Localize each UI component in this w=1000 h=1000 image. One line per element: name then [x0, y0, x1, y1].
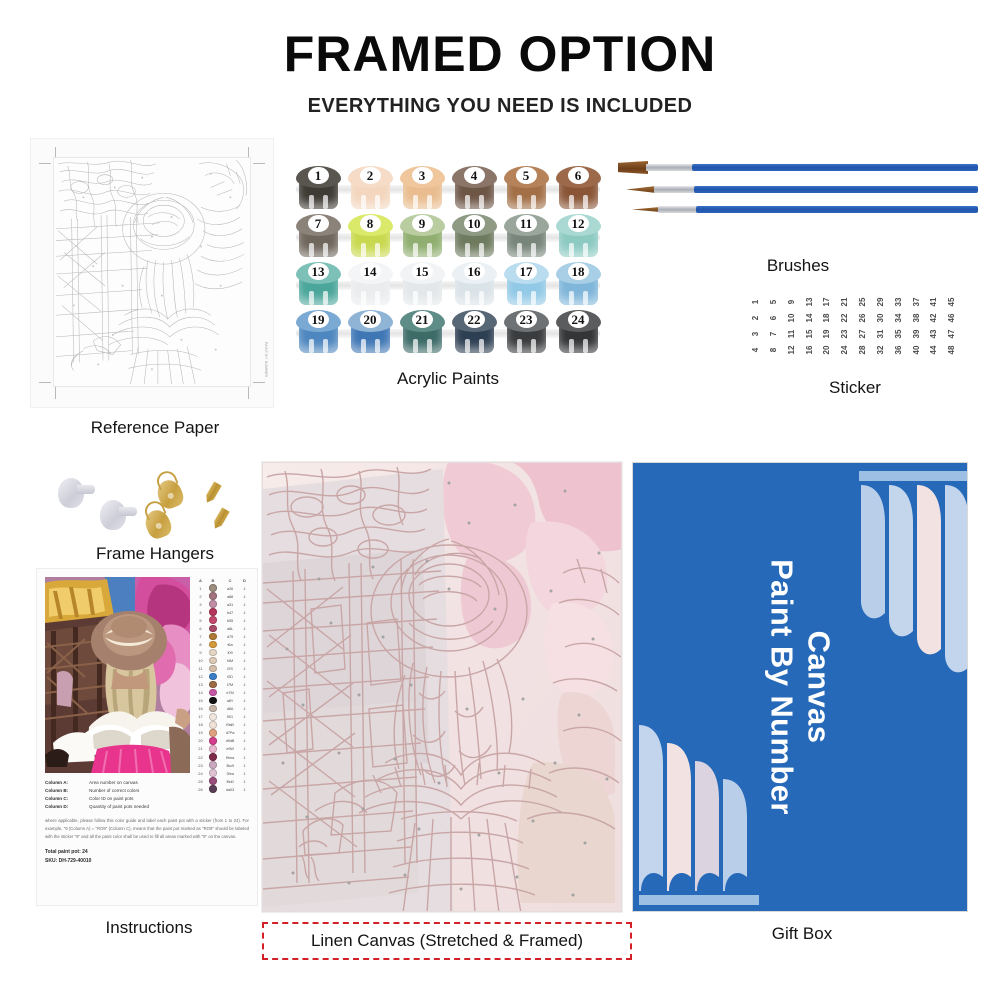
legend-color-id: f4M [220, 658, 240, 663]
sticker-number[interactable]: 20 [818, 341, 834, 359]
brush-handle [692, 164, 978, 171]
paint-pot[interactable]: 5 [504, 165, 549, 211]
brush-medium-round [618, 186, 978, 196]
legend-header-b: B [206, 578, 220, 583]
legend-color-id: a31 [220, 602, 240, 607]
legend-area-number: 11 [195, 666, 206, 671]
brush-ferrule [658, 206, 698, 213]
legend-quantity: 1 [240, 666, 249, 671]
wall-plug-icon [100, 500, 126, 530]
legend-area-number: 10 [195, 658, 206, 663]
legend-color-swatch [209, 616, 217, 624]
legend-quantity: 1 [240, 650, 249, 655]
legend-row: 2439ra1 [195, 769, 249, 777]
linen-canvas-artwork [262, 462, 622, 912]
instructions-column-value: Color ID on paint pots [89, 795, 133, 803]
legend-row: 5b551 [195, 616, 249, 624]
gift-box-title-line2: Paint By Number [763, 559, 800, 815]
legend-color-swatch [209, 633, 217, 641]
legend-color-swatch [209, 592, 217, 600]
legend-color-swatch [209, 777, 217, 785]
legend-color-swatch [209, 753, 217, 761]
legend-color-swatch [209, 584, 217, 592]
legend-row: 17f0G1 [195, 713, 249, 721]
legend-color-swatch [209, 608, 217, 616]
legend-quantity: 1 [240, 642, 249, 647]
sticker-number[interactable]: 28 [854, 341, 870, 359]
sticker-number[interactable]: 40 [907, 341, 923, 359]
gift-box-title: Canvas Paint By Number [763, 559, 836, 815]
legend-row: 233bc91 [195, 761, 249, 769]
legend-quantity: 1 [240, 658, 249, 663]
legend-color-swatch [209, 657, 217, 665]
legend-row: 4b471 [195, 608, 249, 616]
sticker-number[interactable]: 12 [783, 341, 799, 359]
legend-quantity: 1 [240, 730, 249, 735]
acrylic-paints-caption: Acrylic Paints [292, 369, 604, 389]
instructions-sheet: A B C D 1a2612a8813a3114b4715b5516a8L17d… [36, 568, 258, 906]
instructions-column-value: Quantity of paint pots needed [89, 803, 149, 811]
brush-bristles [626, 186, 656, 193]
paint-pot-number: 11 [504, 216, 549, 232]
legend-area-number: 20 [195, 738, 206, 743]
sticker-number[interactable]: 8 [765, 341, 781, 359]
instructions-top-row: A B C D 1a2612a8813a3114b4715b5516a8L17d… [45, 577, 249, 773]
legend-color-id: da03 [220, 787, 240, 792]
legend-header-a: A [195, 578, 206, 583]
legend-color-id: d6A [220, 706, 240, 711]
paint-pot[interactable]: 15 [400, 261, 445, 307]
legend-area-number: 16 [195, 706, 206, 711]
paint-pot-row-inner: 131415161718 [292, 261, 604, 307]
screw-icon [203, 481, 222, 505]
legend-area-number: 8 [195, 642, 206, 647]
sticker-caption: Sticker [740, 378, 970, 398]
legend-quantity: 1 [240, 594, 249, 599]
sticker-item: 1234567891011121314151617181920212223242… [740, 288, 970, 398]
paint-pot[interactable]: 16 [452, 261, 497, 307]
legend-color-swatch [209, 673, 217, 681]
sticker-number[interactable]: 24 [836, 341, 852, 359]
gift-box-item: Canvas Paint By Number Gift Box [632, 462, 972, 944]
legend-quantity: 1 [240, 674, 249, 679]
screw-icon [211, 507, 230, 531]
reference-paper-item: PAINT BY NUMBER Reference Paper [30, 138, 280, 438]
legend-row: 11f2S1 [195, 664, 249, 672]
legend-area-number: 4 [195, 610, 206, 615]
paint-pot-row-inner: 123456 [292, 165, 604, 211]
paint-pot[interactable]: 7 [296, 213, 341, 259]
legend-area-number: 6 [195, 626, 206, 631]
linen-canvas-caption: Linen Canvas (Stretched & Framed) [311, 931, 583, 950]
legend-quantity: 1 [240, 634, 249, 639]
legend-area-number: 19 [195, 730, 206, 735]
paint-pot-number: 19 [296, 312, 341, 328]
legend-header-row: A B C D [195, 577, 249, 584]
sticker-number[interactable]: 16 [800, 341, 816, 359]
paint-pot[interactable]: 3 [400, 165, 445, 211]
legend-area-number: 21 [195, 746, 206, 751]
paint-pot-number: 24 [556, 312, 601, 328]
legend-row: 21e9W1 [195, 745, 249, 753]
legend-row: 25f5d01 [195, 777, 249, 785]
legend-color-id: f2D [220, 674, 240, 679]
legend-row: 6a8L1 [195, 624, 249, 632]
sticker-number-grid: 1234567891011121314151617181920212223242… [746, 294, 960, 358]
legend-quantity: 1 [240, 714, 249, 719]
paint-pot-number: 6 [556, 168, 601, 184]
paint-pot-number: 7 [296, 216, 341, 232]
legend-color-swatch [209, 697, 217, 705]
legend-color-swatch [209, 713, 217, 721]
paint-pot-number: 15 [400, 264, 445, 280]
legend-row: 1a261 [195, 584, 249, 592]
legend-color-swatch [209, 681, 217, 689]
paint-pot[interactable]: 18 [556, 261, 601, 307]
paint-pot-row: 789101112 [292, 213, 604, 261]
legend-color-id: d79 [220, 634, 240, 639]
sticker-sheet: 1234567891011121314151617181920212223242… [740, 288, 966, 364]
legend-row: 2a881 [195, 592, 249, 600]
legend-row: 15a8Y1 [195, 697, 249, 705]
paint-pot-number: 9 [400, 216, 445, 232]
paint-pot[interactable]: 23 [504, 309, 549, 355]
legend-area-number: 3 [195, 602, 206, 607]
wall-plug-icon [58, 478, 84, 508]
legend-row: 16d6A1 [195, 705, 249, 713]
paint-pot[interactable]: 12 [556, 213, 601, 259]
legend-quantity: 1 [240, 586, 249, 591]
legend-color-id: a88 [220, 594, 240, 599]
legend-area-number: 15 [195, 698, 206, 703]
legend-quantity: 1 [240, 626, 249, 631]
legend-color-swatch [209, 665, 217, 673]
legend-color-swatch [209, 721, 217, 729]
page-subtitle: EVERYTHING YOU NEED IS INCLUDED [0, 95, 1000, 118]
legend-area-number: 22 [195, 755, 206, 760]
instructions-column-key: Column A: [45, 779, 89, 787]
legend-quantity: 1 [240, 746, 249, 751]
page-title: FRAMED OPTION [0, 28, 1000, 81]
legend-area-number: 13 [195, 682, 206, 687]
brush-bristles [618, 161, 648, 174]
legend-color-id: f2S [220, 666, 240, 671]
paint-pot[interactable]: 20 [348, 309, 393, 355]
paint-pot[interactable]: 8 [348, 213, 393, 259]
paint-pot-row: 192021222324 [292, 309, 604, 357]
legend-row: 14e7M1 [195, 689, 249, 697]
sticker-number[interactable]: 48 [943, 341, 959, 359]
legend-color-id: a8L [220, 626, 240, 631]
legend-quantity: 1 [240, 610, 249, 615]
reference-paper-side-code: PAINT BY NUMBER [264, 342, 268, 377]
paint-pot[interactable]: 10 [452, 213, 497, 259]
legend-color-id: a8Y [220, 698, 240, 703]
brush-handle [694, 186, 978, 193]
legend-color-swatch [209, 761, 217, 769]
legend-color-id: f6a [220, 642, 240, 647]
instructions-column-key: Column C: [45, 795, 89, 803]
paint-pot-number: 12 [556, 216, 601, 232]
paint-pot-number: 23 [504, 312, 549, 328]
legend-color-swatch [209, 729, 217, 737]
instructions-paragraph: where applicable, please follow this col… [45, 817, 249, 841]
paint-pot-row: 123456 [292, 165, 604, 213]
instructions-footer: Total paint pot: 24 SKU: DH-729-40010 [45, 848, 249, 867]
canvas-lineart-svg [263, 463, 622, 912]
legend-color-swatch [209, 689, 217, 697]
paint-pot[interactable]: 1 [296, 165, 341, 211]
legend-quantity: 1 [240, 779, 249, 784]
legend-header-d: D [240, 578, 249, 583]
legend-rows: 1a2612a8813a3114b4715b5516a8L17d7918f6a1… [195, 584, 249, 793]
legend-quantity: 1 [240, 755, 249, 760]
legend-color-id: f7M [220, 682, 240, 687]
crop-mark [39, 163, 51, 164]
legend-quantity: 1 [240, 618, 249, 623]
legend-quantity: 1 [240, 706, 249, 711]
legend-color-swatch [209, 785, 217, 793]
brush-bristles [632, 207, 660, 212]
instructions-painting-preview [45, 577, 190, 773]
instructions-caption: Instructions [36, 918, 262, 938]
instructions-column-key: Column D: [45, 803, 89, 811]
paint-pot[interactable]: 17 [504, 261, 549, 307]
brush-ferrule [654, 186, 696, 193]
reference-paper-lineart [53, 157, 251, 387]
legend-row: 18f9aB1 [195, 721, 249, 729]
brush-fine-round [618, 206, 978, 216]
d-ring-hanger-icon [142, 507, 175, 542]
legend-row: 19d7Pa1 [195, 729, 249, 737]
legend-row: 12f2D1 [195, 673, 249, 681]
paint-pot-number: 1 [296, 168, 341, 184]
legend-color-id: b55 [220, 618, 240, 623]
paint-pot[interactable]: 19 [296, 309, 341, 355]
paint-pot-number: 8 [348, 216, 393, 232]
paint-pot-number: 3 [400, 168, 445, 184]
legend-quantity: 1 [240, 738, 249, 743]
paint-pot-number: 18 [556, 264, 601, 280]
paint-pot-number: 17 [504, 264, 549, 280]
legend-area-number: 24 [195, 771, 206, 776]
legend-area-number: 18 [195, 722, 206, 727]
legend-quantity: 1 [240, 698, 249, 703]
gift-box-artwork: Canvas Paint By Number [632, 462, 968, 912]
legend-color-swatch [209, 737, 217, 745]
legend-color-swatch [209, 705, 217, 713]
paint-pot[interactable]: 13 [296, 261, 341, 307]
legend-color-id: f09 [220, 650, 240, 655]
legend-color-swatch [209, 625, 217, 633]
instructions-column-value: Area number on canvas [89, 779, 138, 787]
legend-area-number: 23 [195, 763, 206, 768]
brush-handle [696, 206, 978, 213]
paint-pot-number: 21 [400, 312, 445, 328]
paint-pot-grid: 123456789101112131415161718192021222324 [292, 165, 604, 357]
legend-color-swatch [209, 641, 217, 649]
legend-quantity: 1 [240, 602, 249, 607]
legend-color-id: d7Pa [220, 730, 240, 735]
paint-pot-number: 2 [348, 168, 393, 184]
legend-color-id: f0G [220, 714, 240, 719]
paint-pot[interactable]: 9 [400, 213, 445, 259]
reference-paper-sheet: PAINT BY NUMBER [30, 138, 274, 408]
brush-ferrule [646, 164, 694, 171]
linen-canvas-label-box: Linen Canvas (Stretched & Framed) [262, 922, 632, 960]
reference-paper-caption: Reference Paper [30, 418, 280, 438]
crop-mark [39, 382, 51, 383]
paint-pot-number: 13 [296, 264, 341, 280]
legend-color-id: e7M [220, 690, 240, 695]
legend-quantity: 1 [240, 763, 249, 768]
legend-quantity: 1 [240, 690, 249, 695]
legend-area-number: 14 [195, 690, 206, 695]
sticker-number[interactable]: 32 [872, 341, 888, 359]
gift-box-caption: Gift Box [632, 924, 972, 944]
acrylic-paints-item: 123456789101112131415161718192021222324 … [292, 165, 604, 389]
painting-preview-svg [45, 577, 190, 773]
paint-pot-number: 22 [452, 312, 497, 328]
legend-row: 10f4M1 [195, 656, 249, 664]
brush-set [618, 160, 978, 250]
frame-hangers-item: Frame Hangers [50, 468, 260, 564]
brush-flat [618, 164, 978, 174]
paint-pot-number: 16 [452, 264, 497, 280]
legend-color-id: 39ra [220, 771, 240, 776]
legend-quantity: 1 [240, 787, 249, 792]
paint-pot-number: 14 [348, 264, 393, 280]
instructions-color-legend: A B C D 1a2612a8813a3114b4715b5516a8L17d… [195, 577, 249, 773]
legend-area-number: 25 [195, 779, 206, 784]
sticker-number[interactable]: 36 [890, 341, 906, 359]
brushes-item: Brushes [618, 160, 978, 276]
legend-area-number: 2 [195, 594, 206, 599]
total-paint-pot: Total paint pot: 24 [45, 848, 249, 858]
crop-mark [55, 387, 56, 399]
legend-area-number: 26 [195, 787, 206, 792]
page-header: FRAMED OPTION EVERYTHING YOU NEED IS INC… [0, 0, 1000, 118]
crop-mark [248, 387, 249, 399]
legend-area-number: 17 [195, 714, 206, 719]
legend-color-id: b47 [220, 610, 240, 615]
crop-mark [253, 382, 265, 383]
legend-area-number: 5 [195, 618, 206, 623]
legend-color-id: 3bc9 [220, 763, 240, 768]
instructions-column-value: Number of correct colors [89, 787, 139, 795]
paint-pot-row: 131415161718 [292, 261, 604, 309]
legend-row: 13f7M1 [195, 681, 249, 689]
legend-row: 26da031 [195, 785, 249, 793]
legend-color-id: d9dB [220, 738, 240, 743]
legend-row: 20d9dB1 [195, 737, 249, 745]
paint-pot[interactable]: 6 [556, 165, 601, 211]
legend-color-swatch [209, 745, 217, 753]
legend-quantity: 1 [240, 771, 249, 776]
instructions-item: A B C D 1a2612a8813a3114b4715b5516a8L17d… [36, 568, 262, 938]
legend-row: 22f9ma1 [195, 753, 249, 761]
legend-color-id: a26 [220, 586, 240, 591]
legend-header-c: C [220, 578, 240, 583]
linen-canvas-item: Linen Canvas (Stretched & Framed) [262, 462, 632, 960]
sticker-number[interactable]: 44 [925, 341, 941, 359]
legend-row: 3a311 [195, 600, 249, 608]
crop-mark [253, 163, 265, 164]
legend-area-number: 9 [195, 650, 206, 655]
paint-pot-row-inner: 789101112 [292, 213, 604, 259]
brushes-caption: Brushes [618, 256, 978, 276]
legend-color-id: f5d0 [220, 779, 240, 784]
legend-color-id: f9ma [220, 755, 240, 760]
paint-pot-number: 4 [452, 168, 497, 184]
legend-row: 7d791 [195, 632, 249, 640]
paint-pot-number: 20 [348, 312, 393, 328]
paint-pot-row-inner: 192021222324 [292, 309, 604, 355]
legend-row: 8f6a1 [195, 640, 249, 648]
instructions-column-key: Column B: [45, 787, 89, 795]
legend-quantity: 1 [240, 722, 249, 727]
paint-pot[interactable]: 4 [452, 165, 497, 211]
legend-color-id: e9W [220, 746, 240, 751]
instructions-column-line: Column C:Color ID on paint pots [45, 795, 249, 803]
legend-area-number: 12 [195, 674, 206, 679]
legend-row: 9f091 [195, 648, 249, 656]
paint-pot-number: 5 [504, 168, 549, 184]
paint-pot[interactable]: 21 [400, 309, 445, 355]
paint-pot[interactable]: 22 [452, 309, 497, 355]
paint-pot[interactable]: 11 [504, 213, 549, 259]
legend-area-number: 1 [195, 586, 206, 591]
frame-hangers-caption: Frame Hangers [50, 544, 260, 564]
legend-color-id: f9aB [220, 722, 240, 727]
sticker-number[interactable]: 4 [747, 341, 763, 359]
instructions-column-line: Column D:Quantity of paint pots needed [45, 803, 249, 811]
legend-color-swatch [209, 600, 217, 608]
legend-area-number: 7 [195, 634, 206, 639]
paint-pot[interactable]: 2 [348, 165, 393, 211]
legend-quantity: 1 [240, 682, 249, 687]
legend-color-swatch [209, 769, 217, 777]
paint-pot[interactable]: 24 [556, 309, 601, 355]
legend-color-swatch [209, 649, 217, 657]
gift-box-title-line1: Canvas [800, 559, 837, 815]
frame-hangers-parts [50, 468, 260, 540]
lineart-svg [54, 158, 250, 386]
paint-pot-number: 10 [452, 216, 497, 232]
sku-code: SKU: DH-729-40010 [45, 857, 249, 867]
paint-pot[interactable]: 14 [348, 261, 393, 307]
